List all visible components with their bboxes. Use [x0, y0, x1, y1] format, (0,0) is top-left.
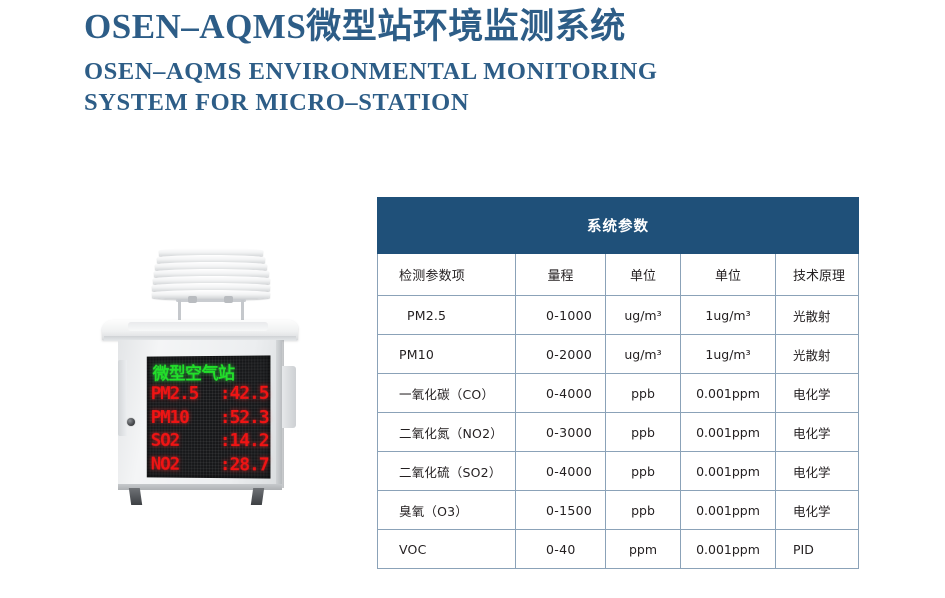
- cell-parameter: VOC: [378, 530, 516, 569]
- led-reading-row: PM10 :52.3: [151, 405, 269, 429]
- cell-principle: PID: [776, 530, 859, 569]
- cabinet-side-vent: [282, 366, 296, 428]
- page-header: OSEN–AQMS微型站环境监测系统 OSEN–AQMS ENVIRONMENT…: [84, 6, 884, 118]
- led-reading-label: NO2: [151, 452, 179, 476]
- led-reading-row: NO2 :28.7: [151, 452, 269, 476]
- radiation-shield-icon: [152, 248, 270, 298]
- cell-parameter: PM10: [378, 335, 516, 374]
- cell-parameter: 二氧化硫（SO2）: [378, 452, 516, 491]
- led-reading-value: :42.5: [220, 382, 269, 406]
- monitoring-station-device-image: 微型空气站 PM2.5 :42.5 PM10 :52.3 SO2 :14.2 N…: [100, 248, 330, 510]
- bracket-crossbar: [176, 299, 246, 302]
- led-reading-label: PM10: [151, 406, 189, 429]
- table-row: 一氧化碳（CO） 0-4000 ppb 0.001ppm 电化学: [378, 374, 859, 413]
- column-header-resolution: 单位: [681, 254, 776, 296]
- led-reading-value: :14.2: [220, 429, 269, 453]
- column-header-principle: 技术原理: [776, 254, 859, 296]
- cell-range: 0-4000: [516, 374, 606, 413]
- cell-unit: ppm: [606, 530, 681, 569]
- led-reading-value: :52.3: [220, 405, 269, 429]
- cell-unit: ppb: [606, 374, 681, 413]
- cell-parameter: PM2.5: [378, 296, 516, 335]
- table-header-row: 检测参数项 量程 单位 单位 技术原理: [378, 254, 859, 296]
- cell-range: 0-4000: [516, 452, 606, 491]
- led-matrix-display: 微型空气站 PM2.5 :42.5 PM10 :52.3 SO2 :14.2 N…: [147, 355, 271, 478]
- cell-parameter: 二氧化氮（NO2）: [378, 413, 516, 452]
- cell-unit: ppb: [606, 491, 681, 530]
- led-reading-row: SO2 :14.2: [151, 429, 269, 453]
- table-row: 二氧化氮（NO2） 0-3000 ppb 0.001ppm 电化学: [378, 413, 859, 452]
- cell-resolution: 0.001ppm: [681, 452, 776, 491]
- cell-principle: 电化学: [776, 413, 859, 452]
- table-title: 系统参数: [378, 198, 859, 254]
- table-title-row: 系统参数: [378, 198, 859, 254]
- cell-resolution: 0.001ppm: [681, 374, 776, 413]
- system-parameters-table: 系统参数 检测参数项 量程 单位 单位 技术原理 PM2.5 0-1000 ug…: [377, 197, 859, 569]
- cell-principle: 电化学: [776, 491, 859, 530]
- column-header-parameter: 检测参数项: [378, 254, 516, 296]
- page-title-chinese: OSEN–AQMS微型站环境监测系统: [84, 6, 884, 48]
- led-reading-value: :28.7: [220, 453, 269, 477]
- table-row: 二氧化硫（SO2） 0-4000 ppb 0.001ppm 电化学: [378, 452, 859, 491]
- led-reading-row: PM2.5 :42.5: [151, 382, 269, 406]
- cell-range: 0-40: [516, 530, 606, 569]
- cell-resolution: 1ug/m³: [681, 296, 776, 335]
- led-readings-list: PM2.5 :42.5 PM10 :52.3 SO2 :14.2 NO2 :28…: [151, 382, 269, 477]
- cell-resolution: 1ug/m³: [681, 335, 776, 374]
- table-row: 臭氧（O3） 0-1500 ppb 0.001ppm 电化学: [378, 491, 859, 530]
- cell-unit: ug/m³: [606, 335, 681, 374]
- cell-unit: ppb: [606, 413, 681, 452]
- cell-unit: ppb: [606, 452, 681, 491]
- bracket-knob-right: [224, 296, 233, 303]
- led-display-title: 微型空气站: [153, 359, 235, 385]
- cell-resolution: 0.001ppm: [681, 530, 776, 569]
- cell-resolution: 0.001ppm: [681, 413, 776, 452]
- cell-principle: 光散射: [776, 335, 859, 374]
- cell-range: 0-1000: [516, 296, 606, 335]
- column-header-unit: 单位: [606, 254, 681, 296]
- table-row: PM2.5 0-1000 ug/m³ 1ug/m³ 光散射: [378, 296, 859, 335]
- table-row: PM10 0-2000 ug/m³ 1ug/m³ 光散射: [378, 335, 859, 374]
- led-reading-label: PM2.5: [151, 382, 199, 406]
- cell-parameter: 臭氧（O3）: [378, 491, 516, 530]
- cell-principle: 光散射: [776, 296, 859, 335]
- cell-range: 0-1500: [516, 491, 606, 530]
- cabinet-leg-right: [251, 488, 264, 505]
- cell-unit: ug/m³: [606, 296, 681, 335]
- cell-principle: 电化学: [776, 452, 859, 491]
- cell-range: 0-2000: [516, 335, 606, 374]
- cell-principle: 电化学: [776, 374, 859, 413]
- led-reading-label: SO2: [151, 429, 179, 452]
- column-header-range: 量程: [516, 254, 606, 296]
- cell-range: 0-3000: [516, 413, 606, 452]
- cabinet-door-lock: [127, 418, 135, 426]
- cabinet-door-hinge: [118, 360, 127, 436]
- bracket-knob-left: [188, 296, 197, 303]
- cabinet-lid-panel: [128, 322, 268, 331]
- cell-resolution: 0.001ppm: [681, 491, 776, 530]
- cabinet-leg-left: [129, 488, 142, 505]
- table-row: VOC 0-40 ppm 0.001ppm PID: [378, 530, 859, 569]
- page-title-english: OSEN–AQMS ENVIRONMENTAL MONITORING SYSTE…: [84, 56, 764, 118]
- cell-parameter: 一氧化碳（CO）: [378, 374, 516, 413]
